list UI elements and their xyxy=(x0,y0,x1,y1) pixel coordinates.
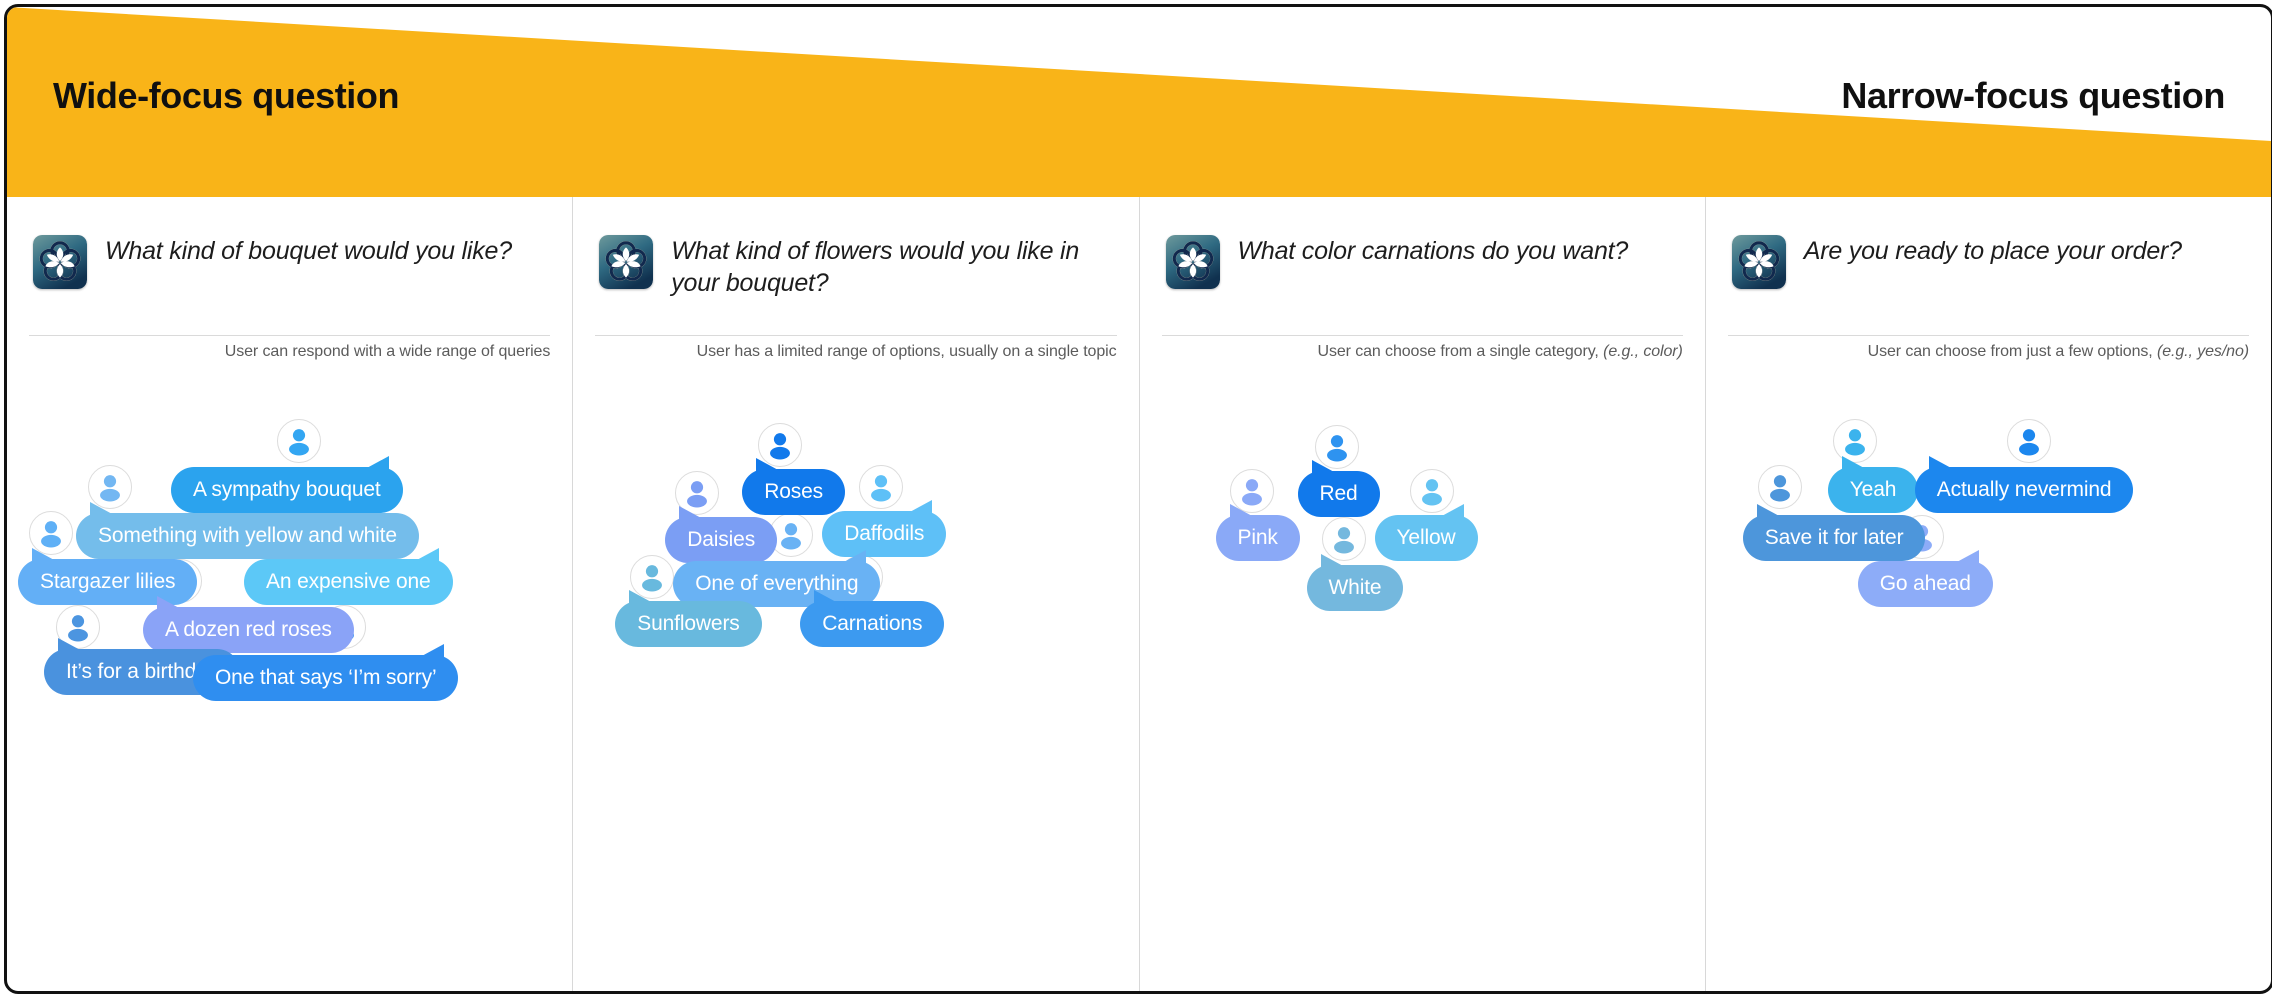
section-divider xyxy=(1728,335,2249,336)
bubble-label: Daffodils xyxy=(844,522,924,545)
user-response-bubble[interactable]: Save it for later xyxy=(1743,515,1926,561)
bubble-label: Something with yellow and white xyxy=(98,524,397,547)
column-caption: User can respond with a wide range of qu… xyxy=(225,343,550,361)
chat-bubble-field: YeahActually nevermindSave it for laterG… xyxy=(1706,393,2271,953)
flower-rosette-agent-icon xyxy=(33,235,87,289)
user-avatar-icon xyxy=(1758,465,1802,509)
section-divider xyxy=(29,335,550,336)
agent-question-text: What kind of bouquet would you like? xyxy=(105,235,512,267)
user-response-bubble[interactable]: A dozen red roses xyxy=(143,607,354,653)
user-response-bubble[interactable]: Pink xyxy=(1216,515,1300,561)
user-response-bubble[interactable]: Actually nevermind xyxy=(1915,467,2134,513)
column-caption: User can choose from just a few options,… xyxy=(1868,343,2249,361)
caption-main-text: User can choose from just a few options, xyxy=(1868,343,2153,360)
user-response-bubble[interactable]: Yeah xyxy=(1828,467,1919,513)
bubble-label: White xyxy=(1329,576,1382,599)
user-response-bubble[interactable]: A sympathy bouquet xyxy=(171,467,403,513)
user-response-bubble[interactable]: Red xyxy=(1298,471,1380,517)
agent-question-text: What color carnations do you want? xyxy=(1238,235,1629,267)
section-divider xyxy=(595,335,1116,336)
question-row: What color carnations do you want? xyxy=(1162,235,1683,289)
bubble-label: Stargazer lilies xyxy=(40,570,175,593)
section-divider xyxy=(1162,335,1683,336)
bubble-label: Save it for later xyxy=(1765,526,1904,549)
user-response-bubble[interactable]: An expensive one xyxy=(244,559,453,605)
user-response-bubble[interactable]: Go ahead xyxy=(1858,561,1993,607)
user-response-bubble[interactable]: Something with yellow and white xyxy=(76,513,419,559)
diagram-frame: Wide-focus question Narrow-focus questio… xyxy=(4,4,2272,994)
bubble-label: A sympathy bouquet xyxy=(193,478,381,501)
column-1: What kind of bouquet would you like?User… xyxy=(7,197,572,991)
narrow-focus-label: Narrow-focus question xyxy=(1841,75,2225,117)
question-row: What kind of flowers would you like in y… xyxy=(595,235,1116,299)
user-response-bubble[interactable]: Roses xyxy=(742,469,845,515)
agent-question-text: Are you ready to place your order? xyxy=(1804,235,2182,267)
bubble-label: Actually nevermind xyxy=(1937,478,2112,501)
bubble-label: Yeah xyxy=(1850,478,1897,501)
column-2: What kind of flowers would you like in y… xyxy=(572,197,1138,991)
caption-example-text: (e.g., yes/no) xyxy=(2157,343,2249,360)
bubble-label: An expensive one xyxy=(266,570,431,593)
columns-container: What kind of bouquet would you like?User… xyxy=(7,197,2271,991)
caption-example-text: (e.g., color) xyxy=(1603,343,1683,360)
user-avatar-icon xyxy=(2007,419,2051,463)
bubble-label: Yellow xyxy=(1397,526,1456,549)
user-avatar-icon xyxy=(859,465,903,509)
agent-question-text: What kind of flowers would you like in y… xyxy=(671,235,1091,299)
flower-rosette-agent-icon xyxy=(1732,235,1786,289)
bubble-label: Daisies xyxy=(687,528,755,551)
user-response-bubble[interactable]: Daffodils xyxy=(822,511,946,557)
user-response-bubble[interactable]: Daisies xyxy=(665,517,777,563)
wide-focus-label: Wide-focus question xyxy=(53,75,399,117)
focus-spectrum-banner: Wide-focus question Narrow-focus questio… xyxy=(7,7,2271,197)
bubble-label: Sunflowers xyxy=(637,612,739,635)
user-avatar-icon xyxy=(277,419,321,463)
user-response-bubble[interactable]: Carnations xyxy=(800,601,944,647)
bubble-label: Carnations xyxy=(822,612,922,635)
column-3: What color carnations do you want?User c… xyxy=(1139,197,1705,991)
question-row: What kind of bouquet would you like? xyxy=(29,235,550,289)
user-response-bubble[interactable]: Sunflowers xyxy=(615,601,761,647)
flower-rosette-agent-icon xyxy=(1166,235,1220,289)
bubble-label: Go ahead xyxy=(1880,572,1971,595)
user-response-bubble[interactable]: One that says ‘I’m sorry’ xyxy=(193,655,458,701)
bubble-label: A dozen red roses xyxy=(165,618,332,641)
caption-main-text: User can choose from a single category, xyxy=(1317,343,1598,360)
user-response-bubble[interactable]: White xyxy=(1307,565,1404,611)
chat-bubble-field: RosesDaisiesDaffodilsOne of everythingSu… xyxy=(573,393,1138,953)
column-caption: User has a limited range of options, usu… xyxy=(697,343,1117,361)
bubble-label: Roses xyxy=(764,480,823,503)
chat-bubble-field: A sympathy bouquetSomething with yellow … xyxy=(7,393,572,953)
user-response-bubble[interactable]: Yellow xyxy=(1375,515,1478,561)
chat-bubble-field: RedPinkYellowWhite xyxy=(1140,393,1705,953)
question-row: Are you ready to place your order? xyxy=(1728,235,2249,289)
bubble-label: Red xyxy=(1320,482,1358,505)
flower-rosette-agent-icon xyxy=(599,235,653,289)
bubble-label: Pink xyxy=(1238,526,1278,549)
caption-main-text: User can respond with a wide range of qu… xyxy=(225,343,550,360)
column-caption: User can choose from a single category, … xyxy=(1317,343,1682,361)
bubble-label: One that says ‘I’m sorry’ xyxy=(215,666,436,689)
column-4: Are you ready to place your order?User c… xyxy=(1705,197,2271,991)
caption-main-text: User has a limited range of options, usu… xyxy=(697,343,1117,360)
